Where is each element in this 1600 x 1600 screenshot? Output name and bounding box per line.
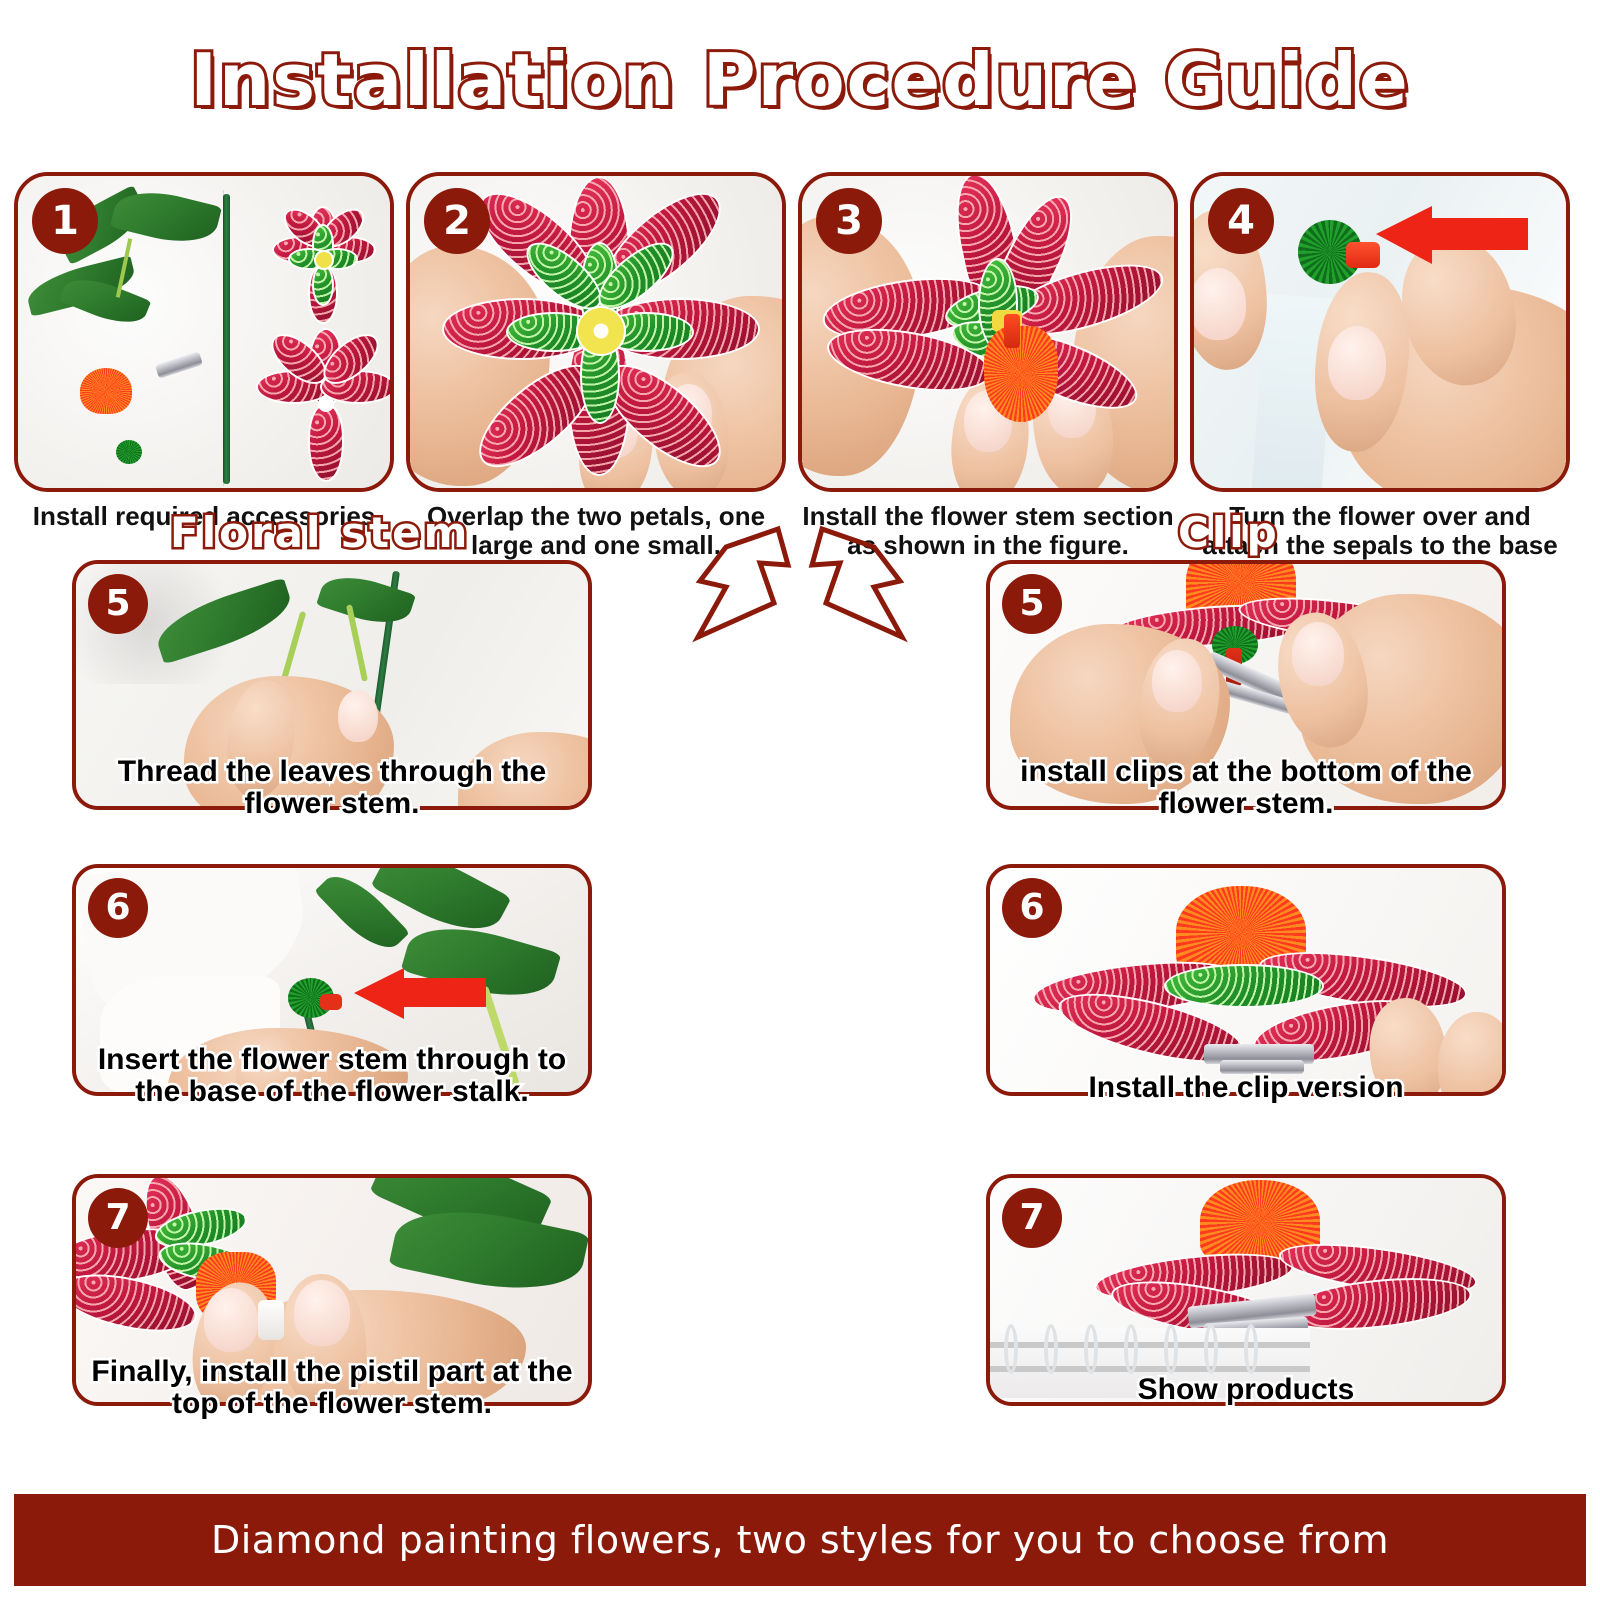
step-number-badge: 5 bbox=[88, 574, 148, 634]
clip-step-6-photo bbox=[986, 864, 1506, 1096]
floral-stem-column: 5 Thread the leaves through the flower s… bbox=[72, 560, 592, 1456]
step-number-badge: 6 bbox=[88, 878, 148, 938]
red-arrow-left-icon bbox=[1370, 204, 1530, 270]
step-number-badge: 2 bbox=[424, 188, 490, 254]
step-number-badge: 7 bbox=[1002, 1188, 1062, 1248]
clip-column: 5 install clips at the bottom of the flo… bbox=[986, 560, 1506, 1456]
floral-step-5-photo bbox=[72, 560, 592, 810]
clip-step-7-photo bbox=[986, 1174, 1506, 1406]
clip-step-card-5: 5 install clips at the bottom of the flo… bbox=[986, 560, 1506, 822]
step-number-badge: 6 bbox=[1002, 878, 1062, 938]
section-heading-clip: Clip bbox=[1178, 508, 1280, 557]
step-number-badge: 5 bbox=[1002, 574, 1062, 634]
step-number-badge: 4 bbox=[1208, 188, 1274, 254]
clip-step-5-photo bbox=[986, 560, 1506, 810]
arrow-down-left-icon bbox=[698, 529, 788, 637]
step-number-badge: 7 bbox=[88, 1188, 148, 1248]
step-number-badge: 1 bbox=[32, 188, 98, 254]
step-card-2: 2 Overlap the two petals, one large and … bbox=[406, 172, 786, 492]
red-arrow-left-icon bbox=[348, 966, 488, 1024]
floral-step-card-5: 5 Thread the leaves through the flower s… bbox=[72, 560, 592, 822]
branch-arrows bbox=[620, 525, 980, 645]
top-steps-row: 1 Install required accessories bbox=[14, 172, 1586, 492]
arrow-down-right-icon bbox=[812, 529, 902, 637]
step-card-1: 1 Install required accessories bbox=[14, 172, 394, 492]
clip-step-card-6: 6 Install the clip version bbox=[986, 864, 1506, 1132]
page-title: Installation Procedure Guide bbox=[0, 38, 1600, 122]
section-heading-floral-stem: Floral stem bbox=[170, 508, 470, 557]
floral-step-7-photo bbox=[72, 1174, 592, 1406]
floral-step-6-photo bbox=[72, 864, 592, 1096]
clip-step-card-7: 7 Show products bbox=[986, 1174, 1506, 1444]
step-card-4: 4 Turn the flower over and attach the se… bbox=[1190, 172, 1570, 492]
floral-step-card-6: 6 Insert the flower stem through to the … bbox=[72, 864, 592, 1132]
footer-text: Diamond painting flowers, two styles for… bbox=[211, 1518, 1389, 1562]
step-number-badge: 3 bbox=[816, 188, 882, 254]
step-card-3: 3 Install the flower stem section as sho… bbox=[798, 172, 1178, 492]
floral-step-card-7: 7 Finally, install the pistil part at th… bbox=[72, 1174, 592, 1444]
footer-banner: Diamond painting flowers, two styles for… bbox=[14, 1494, 1586, 1586]
